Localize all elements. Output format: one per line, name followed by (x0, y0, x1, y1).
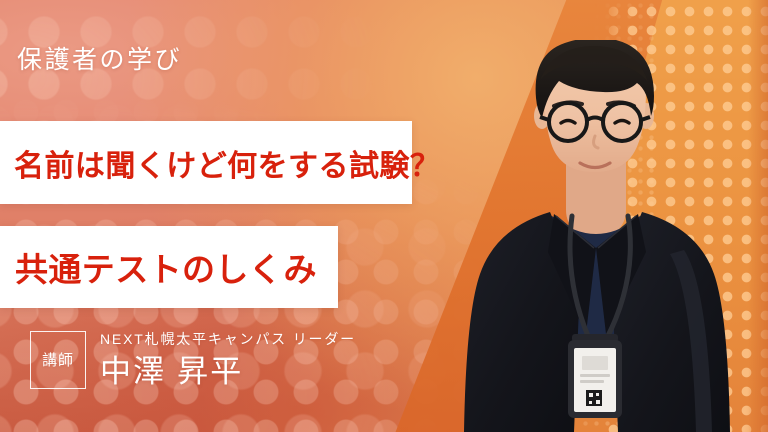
slide-kicker: 保護者の学び (17, 45, 182, 75)
headline-secondary-bar: 共通テストのしくみ (0, 226, 338, 308)
headline-secondary-text: 共通テストのしくみ (15, 243, 317, 291)
slide-canvas: 保護者の学び 名前は聞くけど何をする試験？ 共通テストのしくみ 講師 NEXT札… (0, 0, 768, 432)
headline-primary-bar: 名前は聞くけど何をする試験？ (0, 121, 412, 204)
instructor-badge: 講師 (30, 331, 86, 389)
id-badge-graphic (568, 334, 622, 418)
headline-primary-text: 名前は聞くけど何をする試験？ (14, 141, 440, 185)
instructor-portrait-image (432, 40, 768, 432)
instructor-details: NEXT札幌太平キャンパス リーダー 中澤 昇平 (100, 330, 356, 389)
instructor-role: NEXT札幌太平キャンパス リーダー (100, 331, 356, 349)
instructor-credit: 講師 NEXT札幌太平キャンパス リーダー 中澤 昇平 (30, 330, 356, 389)
instructor-name: 中澤 昇平 (100, 354, 356, 390)
